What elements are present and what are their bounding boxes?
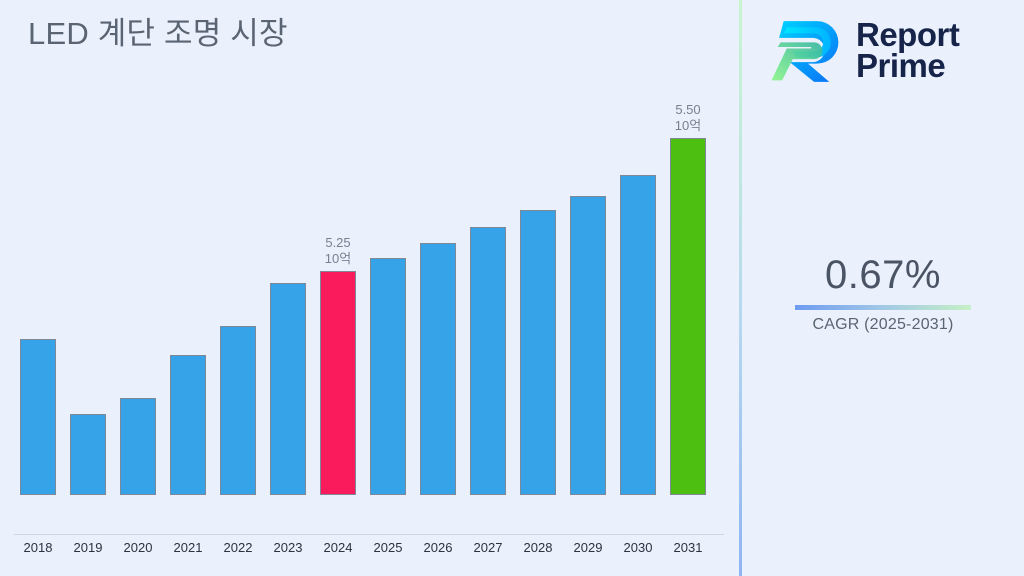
bar-2025[interactable] <box>370 258 406 495</box>
bar-value-label: 5.2510억 <box>325 235 351 267</box>
bar-2019[interactable] <box>70 414 106 495</box>
x-axis-tick-2031: 2031 <box>674 540 703 555</box>
bar-value: 5.50 <box>675 102 701 118</box>
report-prime-logo-icon <box>770 12 846 88</box>
bar-group-2021 <box>170 295 206 495</box>
bar-2023[interactable] <box>270 283 306 495</box>
bar-group-2020 <box>120 338 156 495</box>
x-axis-tick-2023: 2023 <box>274 540 303 555</box>
cagr-divider <box>795 305 971 310</box>
bar-2031[interactable] <box>670 138 706 495</box>
x-axis-baseline <box>14 534 724 535</box>
infographic-root: LED 계단 조명 시장 5.2510억5.5010억 201820192020… <box>0 0 1024 576</box>
brand-wordmark: Report Prime <box>856 19 959 82</box>
bar-group-2025 <box>370 198 406 495</box>
bar-group-2027 <box>470 167 506 495</box>
x-axis-tick-2022: 2022 <box>224 540 253 555</box>
bar-2020[interactable] <box>120 398 156 495</box>
cagr-block: 0.67% CAGR (2025-2031) <box>742 252 1024 334</box>
x-axis-tick-2026: 2026 <box>424 540 453 555</box>
brand-logo: Report Prime <box>770 12 959 88</box>
bar-group-2030 <box>620 115 656 495</box>
bar-value-label: 5.5010억 <box>675 102 701 134</box>
x-axis-tick-2030: 2030 <box>624 540 653 555</box>
x-axis-tick-2019: 2019 <box>74 540 103 555</box>
bar-group-2022 <box>220 266 256 495</box>
bar-group-2031: 5.5010억 <box>670 78 706 495</box>
x-axis-tick-2024: 2024 <box>324 540 353 555</box>
bar-value-unit: 10억 <box>325 251 351 267</box>
bar-value-unit: 10억 <box>675 118 701 134</box>
bar-2029[interactable] <box>570 196 606 495</box>
bar-2026[interactable] <box>420 243 456 495</box>
bar-group-2023 <box>270 223 306 495</box>
bar-2030[interactable] <box>620 175 656 495</box>
x-axis-tick-2028: 2028 <box>524 540 553 555</box>
cagr-caption: CAGR (2025-2031) <box>742 316 1024 334</box>
bar-2021[interactable] <box>170 355 206 495</box>
brand-wordmark-line1: Report <box>856 19 959 50</box>
x-axis-tick-2027: 2027 <box>474 540 503 555</box>
bar-2018[interactable] <box>20 339 56 495</box>
bar-2028[interactable] <box>520 210 556 495</box>
bar-group-2024: 5.2510억 <box>320 211 356 495</box>
bar-2027[interactable] <box>470 227 506 495</box>
bar-group-2028 <box>520 150 556 495</box>
x-axis-tick-2029: 2029 <box>574 540 603 555</box>
bar-2024[interactable] <box>320 271 356 495</box>
x-axis-tick-2025: 2025 <box>374 540 403 555</box>
brand-wordmark-line2: Prime <box>856 50 959 81</box>
chart-panel: LED 계단 조명 시장 5.2510억5.5010억 201820192020… <box>0 0 740 576</box>
bar-2022[interactable] <box>220 326 256 495</box>
cagr-value: 0.67% <box>742 252 1024 298</box>
x-axis-tick-2021: 2021 <box>174 540 203 555</box>
bar-group-2026 <box>420 183 456 495</box>
x-axis-tick-2020: 2020 <box>124 540 153 555</box>
brand-panel: Report Prime 0.67% CAGR (2025-2031) <box>742 0 1024 576</box>
bar-group-2019 <box>70 354 106 495</box>
x-axis-tick-2018: 2018 <box>24 540 53 555</box>
bar-group-2029 <box>570 136 606 495</box>
bar-value: 5.25 <box>325 235 351 251</box>
bar-chart-plot-area: 5.2510억5.5010억 <box>0 0 740 536</box>
bar-group-2018 <box>20 279 56 495</box>
